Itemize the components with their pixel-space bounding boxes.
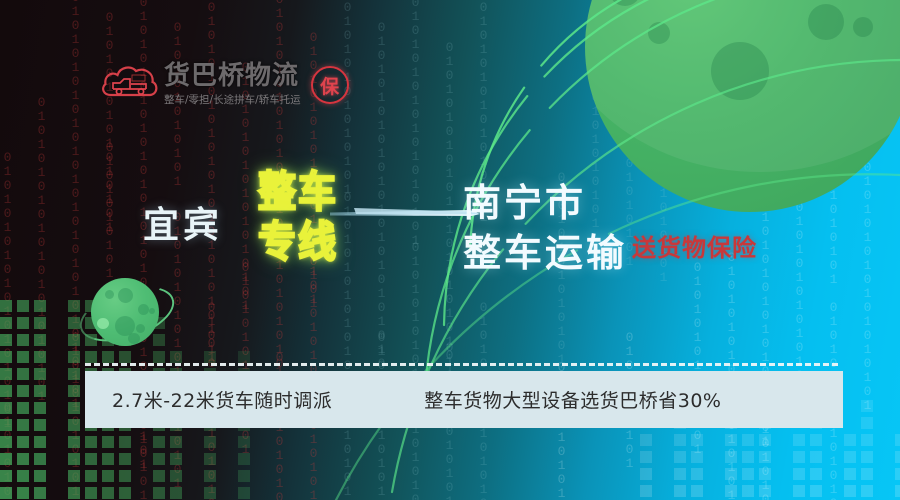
bottom-bar-right-text: 整车货物大型设备选货巴桥省30%: [424, 386, 721, 413]
pixel-cell: [691, 468, 703, 480]
bottom-bar-left-text: 2.7米-22米货车随时调派: [112, 386, 332, 413]
pixel-cell: [68, 487, 80, 499]
pixel-cell: [674, 434, 686, 446]
pixel-cell: [204, 453, 216, 465]
pixel-cell: [810, 468, 822, 480]
pixel-cell: [17, 436, 29, 448]
pixel-cell: [34, 317, 46, 329]
pixel-cell: [102, 453, 114, 465]
pixel-cell: [0, 436, 12, 448]
pixel-cell: [844, 485, 856, 497]
pixel-cell: [17, 300, 29, 312]
pixel-cell: [742, 434, 754, 446]
planet-body: [91, 278, 159, 346]
pixel-cell: [691, 451, 703, 463]
pixel-cell: [725, 451, 737, 463]
arrow-svg: [330, 198, 480, 230]
insurance-badge: 保: [311, 66, 349, 104]
pixel-cell: [153, 453, 165, 465]
pixel-cell: [68, 317, 80, 329]
pixel-cell: [34, 351, 46, 363]
right-arrow-icon: [330, 198, 480, 230]
pixel-cell: [102, 470, 114, 482]
pixel-cell: [861, 417, 873, 429]
pixel-cell: [810, 434, 822, 446]
pixel-cell: [895, 468, 900, 480]
pixel-cell: [68, 402, 80, 414]
pixel-cell: [85, 453, 97, 465]
pixel-cell: [793, 451, 805, 463]
pixel-cell: [640, 434, 652, 446]
crater: [118, 288, 133, 303]
pixel-cell: [34, 300, 46, 312]
binary-column: 01010101010101010101: [2, 150, 13, 430]
insurance-note: 送货物保险: [632, 228, 757, 263]
pixel-cell: [674, 468, 686, 480]
pixel-cell: [85, 436, 97, 448]
pixel-cell: [119, 453, 131, 465]
dashed-divider: [85, 363, 838, 366]
pixel-cell: [34, 402, 46, 414]
green-planet-small: [82, 274, 168, 356]
pixel-cell: [85, 470, 97, 482]
pixel-cell: [793, 468, 805, 480]
destination-line2: 整车运输: [463, 228, 627, 278]
pixel-cell: [34, 436, 46, 448]
pixel-cell: [68, 334, 80, 346]
pixel-cell: [119, 470, 131, 482]
binary-column: 010101010101010101: [70, 330, 81, 500]
pixel-cell: [810, 485, 822, 497]
pixel-cell: [0, 334, 12, 346]
logo-name: 货巴桥物流: [164, 63, 301, 90]
pixel-cell: [34, 453, 46, 465]
pixel-cell: [674, 485, 686, 497]
pixel-cell: [895, 451, 900, 463]
pixel-cell: [640, 485, 652, 497]
pixel-cell: [0, 453, 12, 465]
binary-column: 0101010101010101: [104, 10, 115, 234]
pixel-cell: [0, 402, 12, 414]
binary-column: 01010101010101010101: [172, 210, 183, 490]
pixel-cell: [0, 300, 12, 312]
logistics-banner: 0101010101010101010101010101010101010101…: [0, 0, 900, 500]
pixel-cell: [742, 485, 754, 497]
binary-column: 01010101010101010101: [410, 240, 421, 500]
pixel-cell: [102, 436, 114, 448]
pixel-cell: [153, 436, 165, 448]
crater: [136, 324, 145, 333]
binary-column: 0101010101010101010101: [36, 95, 47, 403]
pixel-cell: [861, 400, 873, 412]
pixel-cell: [17, 402, 29, 414]
pixel-cell: [793, 485, 805, 497]
pixel-cell: [34, 368, 46, 380]
pixel-cell: [68, 300, 80, 312]
pixel-cell: [0, 487, 12, 499]
pixel-cell: [17, 419, 29, 431]
pixel-cell: [895, 434, 900, 446]
crater: [711, 42, 769, 100]
pixel-cell: [844, 434, 856, 446]
pixel-cell: [153, 470, 165, 482]
pixel-cell: [793, 434, 805, 446]
pixel-cell: [85, 487, 97, 499]
pixel-cell: [102, 487, 114, 499]
pixel-cell: [17, 470, 29, 482]
pixel-cell: [759, 434, 771, 446]
green-planet-large: [585, 0, 900, 212]
pixel-cell: [725, 485, 737, 497]
pixel-cell: [0, 317, 12, 329]
pixel-cell: [238, 453, 250, 465]
brand-logo[interactable]: 货巴桥物流 整车/零担/长途拼车/轿车托运 保: [100, 62, 349, 108]
pixel-cell: [204, 436, 216, 448]
pixel-cell: [742, 468, 754, 480]
pixel-cell: [170, 436, 182, 448]
logo-subtitle: 整车/零担/长途拼车/轿车托运: [164, 92, 301, 107]
pixel-cell: [238, 436, 250, 448]
pixel-cell: [34, 470, 46, 482]
pixel-cell: [640, 451, 652, 463]
crater: [853, 17, 873, 37]
pixel-cell: [640, 468, 652, 480]
pixel-cell: [119, 436, 131, 448]
pixel-cell: [691, 485, 703, 497]
crater: [128, 333, 140, 344]
pixel-cell: [0, 351, 12, 363]
pixel-cell: [861, 485, 873, 497]
pixel-cell: [68, 419, 80, 431]
pixel-cell: [17, 385, 29, 397]
pixel-cell: [68, 351, 80, 363]
cloud-truck-icon: [100, 62, 160, 108]
pixel-cell: [17, 351, 29, 363]
pixel-cell: [34, 385, 46, 397]
cloud-truck-svg: [100, 62, 160, 108]
pixel-cell: [0, 419, 12, 431]
pixel-cell: [17, 487, 29, 499]
binary-column: 010101010101010101010101010101: [70, 0, 81, 410]
pixel-cell: [170, 453, 182, 465]
planet-highlight: [97, 318, 109, 329]
pixel-cell: [810, 451, 822, 463]
logo-text-block: 货巴桥物流 整车/零担/长途拼车/轿车托运: [164, 63, 301, 106]
pixel-cell: [68, 436, 80, 448]
pixel-cell: [68, 470, 80, 482]
pixel-cell: [861, 468, 873, 480]
pixel-cell: [725, 434, 737, 446]
binary-column: 01010101010101010101010101: [206, 0, 217, 364]
origin-city: 宜宾: [143, 196, 223, 248]
pixel-cell: [238, 470, 250, 482]
pixel-cell: [238, 351, 250, 363]
destination-line1: 南宁市: [463, 178, 627, 228]
pixel-cell: [34, 487, 46, 499]
pixel-cell: [0, 368, 12, 380]
pixel-cell: [674, 451, 686, 463]
crater: [105, 290, 114, 299]
pixel-cell: [759, 451, 771, 463]
crater: [808, 4, 844, 40]
pixel-cell: [725, 468, 737, 480]
pixel-cell: [0, 385, 12, 397]
pixel-cell: [68, 368, 80, 380]
pixel-cell: [170, 470, 182, 482]
pixel-cell: [742, 451, 754, 463]
pixel-cell: [34, 419, 46, 431]
pixel-cell: [861, 451, 873, 463]
binary-column: 010101010101010101: [862, 160, 873, 412]
pixel-cell: [759, 485, 771, 497]
pixel-cell: [153, 487, 165, 499]
destination-block: 南宁市 整车运输: [463, 178, 627, 278]
pixel-cell: [861, 434, 873, 446]
crater: [138, 304, 149, 315]
pixel-cell: [844, 451, 856, 463]
pixel-cell: [34, 334, 46, 346]
pixel-cell: [204, 487, 216, 499]
pixel-cell: [68, 453, 80, 465]
pixel-cell: [119, 487, 131, 499]
crater: [149, 308, 155, 314]
pixel-cell: [204, 351, 216, 363]
binary-column: 0101010101: [2, 400, 13, 500]
pixel-cell: [691, 434, 703, 446]
crater: [648, 22, 670, 44]
pixel-cell: [17, 317, 29, 329]
pixel-cell: [17, 334, 29, 346]
bottom-info-bar: 2.7米-22米货车随时调派 整车货物大型设备选货巴桥省30%: [85, 371, 843, 428]
pixel-cell: [170, 487, 182, 499]
pixel-cell: [170, 351, 182, 363]
pixel-cell: [844, 468, 856, 480]
pixel-cell: [238, 487, 250, 499]
pixel-cell: [17, 368, 29, 380]
pixel-cell: [759, 468, 771, 480]
pixel-cell: [0, 470, 12, 482]
pixel-cell: [204, 470, 216, 482]
pixel-cell: [68, 385, 80, 397]
pixel-cell: [895, 485, 900, 497]
pixel-cell: [17, 453, 29, 465]
